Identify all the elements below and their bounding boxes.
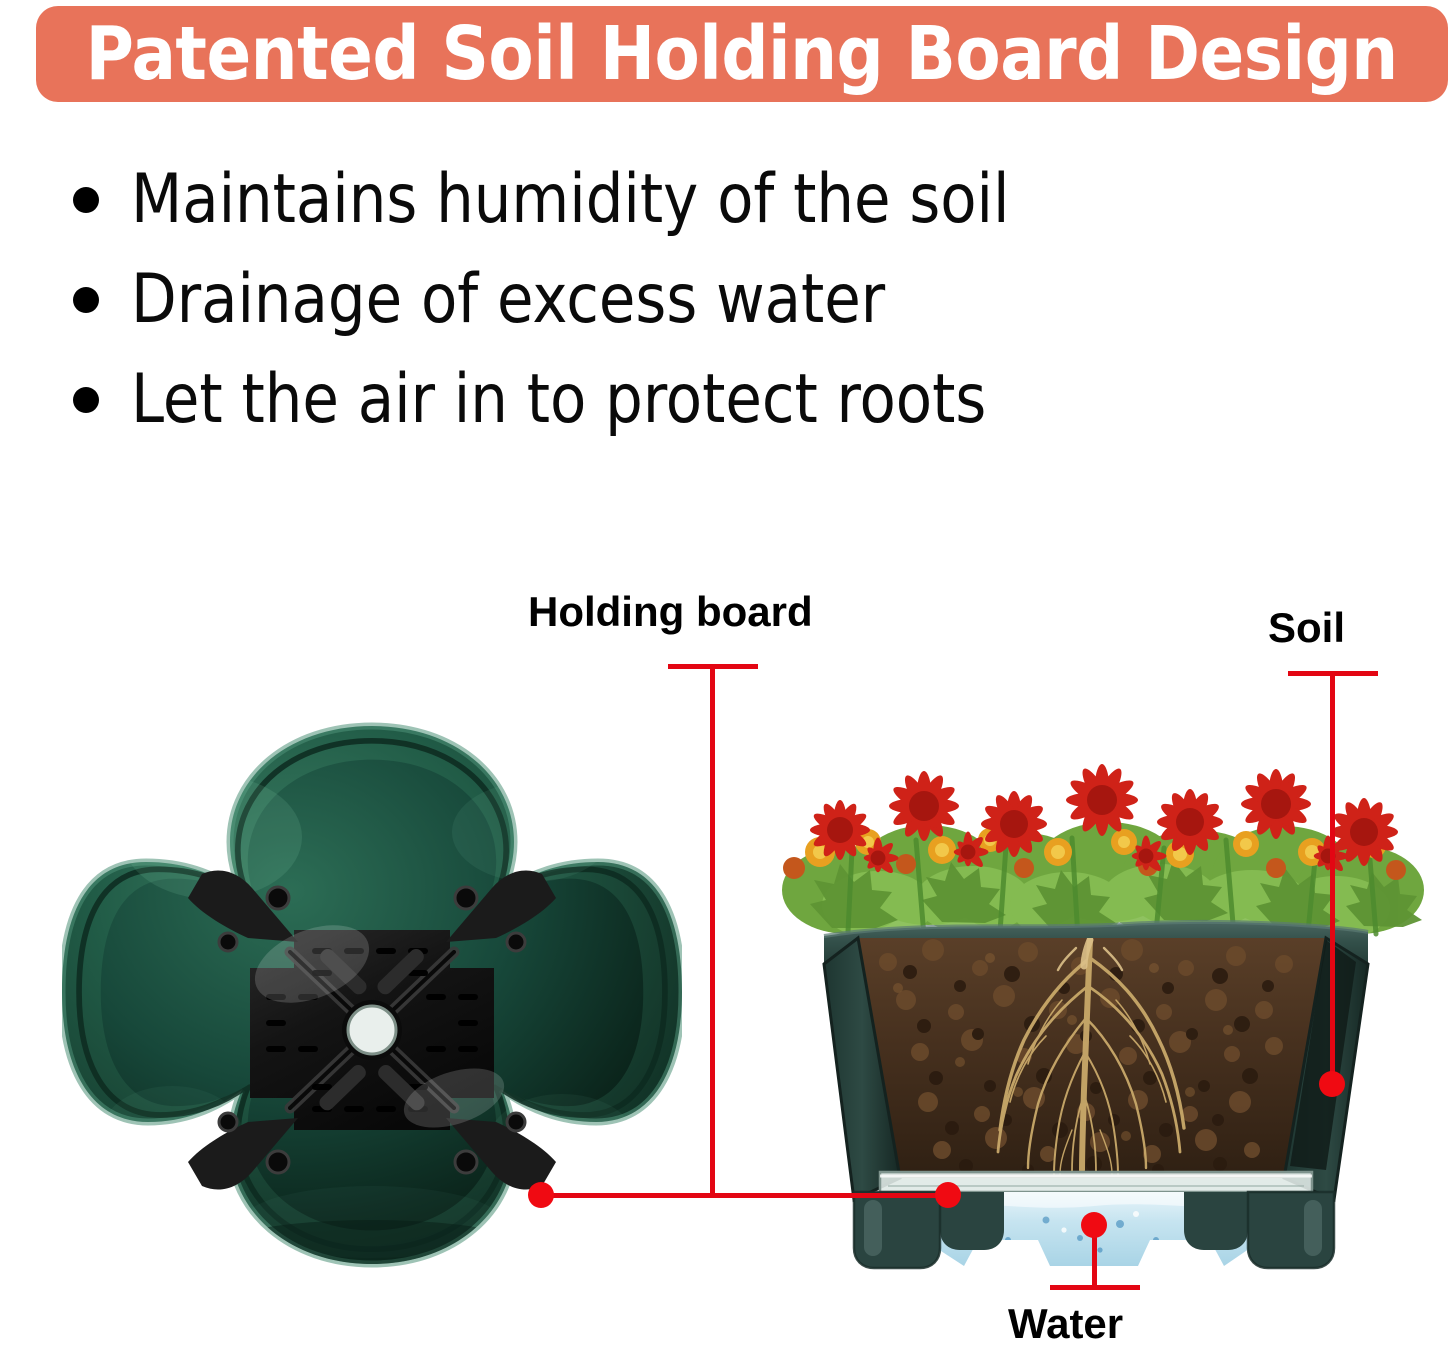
- bullet-point-icon: [73, 287, 99, 313]
- infographic-page: Patented Soil Holding Board Design Maint…: [0, 0, 1456, 1361]
- callout-label-soil: Soil: [1268, 604, 1345, 652]
- plant-flowers: [782, 764, 1424, 940]
- banner-title: Patented Soil Holding Board Design: [86, 15, 1398, 93]
- callout-label-water: Water: [1008, 1300, 1123, 1348]
- left-product-photo: [62, 702, 682, 1322]
- bullet-point-icon: [73, 187, 99, 213]
- feature-text: Maintains humidity of the soil: [131, 164, 1010, 236]
- holding-board-leader-vertical: [710, 664, 715, 1196]
- list-item: Drainage of excess water: [60, 250, 1160, 350]
- water-marker: [1081, 1212, 1107, 1238]
- header-banner: Patented Soil Holding Board Design: [36, 6, 1448, 102]
- soil-marker: [1319, 1071, 1345, 1097]
- list-item: Maintains humidity of the soil: [60, 150, 1160, 250]
- pot-soil-layer: [858, 938, 1326, 1178]
- callout-label-holding-board: Holding board: [528, 588, 813, 636]
- center-drain-hole: [342, 1000, 402, 1060]
- soil-leader-vertical: [1330, 671, 1335, 1083]
- feature-list: Maintains humidity of the soil Drainage …: [60, 150, 1160, 450]
- right-product-crosssection: [728, 700, 1456, 1290]
- holding-board-leader-horizontal: [540, 1193, 960, 1198]
- list-item: Let the air in to protect roots: [60, 350, 1160, 450]
- feature-text: Let the air in to protect roots: [131, 364, 986, 436]
- holding-board-marker-left: [528, 1182, 554, 1208]
- holding-board-marker-right: [935, 1182, 961, 1208]
- feature-text: Drainage of excess water: [131, 264, 885, 336]
- bullet-point-icon: [73, 387, 99, 413]
